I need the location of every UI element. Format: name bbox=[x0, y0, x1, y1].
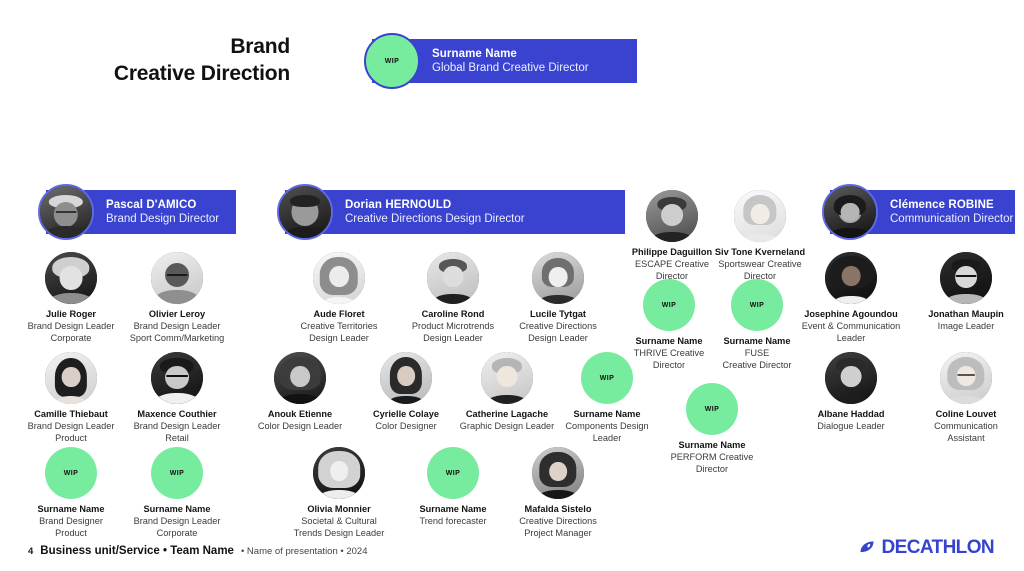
avatar bbox=[313, 447, 365, 499]
top-lead-avatar: WIP bbox=[364, 33, 420, 89]
person-role: Brand Design Leader Corporate bbox=[113, 516, 241, 540]
avatar-wip: WIP bbox=[643, 279, 695, 331]
person-name: Surname Name bbox=[113, 504, 241, 516]
top-lead-card[interactable]: WIP Surname Name Global Brand Creative D… bbox=[372, 39, 637, 83]
pillar-name: Pascal D'AMICO bbox=[106, 198, 219, 212]
pillar-role: Communication Director bbox=[890, 212, 1013, 226]
footer-presentation: • Name of presentation • 2024 bbox=[241, 546, 368, 557]
wip-label: WIP bbox=[600, 375, 614, 382]
pillar-card-brand-design[interactable]: Pascal D'AMICO Brand Design Director bbox=[46, 190, 236, 234]
wip-label: WIP bbox=[64, 470, 78, 477]
person-name: Albane Haddad bbox=[787, 409, 915, 421]
footer-business-unit: Business unit/Service • Team Name bbox=[40, 545, 234, 557]
person-node[interactable]: Maxence Couthier Brand Design Leader Ret… bbox=[113, 352, 241, 445]
decathlon-logo: DECATHLON bbox=[858, 537, 994, 559]
avatar bbox=[481, 352, 533, 404]
person-role: Creative Directions Project Manager bbox=[494, 516, 622, 540]
person-node[interactable]: Lucile Tytgat Creative Directions Design… bbox=[494, 252, 622, 345]
person-role: Brand Design Leader Sport Comm/Marketing bbox=[113, 321, 241, 345]
person-role: PERFORM Creative Director bbox=[648, 452, 776, 476]
person-role: Dialogue Leader bbox=[787, 421, 915, 433]
avatar bbox=[646, 190, 698, 242]
person-node[interactable]: Coline Louvet Communication Assistant bbox=[902, 352, 1024, 445]
photo-clemence bbox=[824, 186, 876, 238]
avatar-wip: WIP bbox=[151, 447, 203, 499]
decathlon-wordmark: DECATHLON bbox=[882, 537, 994, 559]
avatar bbox=[151, 352, 203, 404]
photo-pascal bbox=[40, 186, 92, 238]
slide-footer: 4 Business unit/Service • Team Name • Na… bbox=[28, 545, 368, 557]
pillar-card-communication[interactable]: Clémence ROBINE Communication Director bbox=[830, 190, 1015, 234]
pillar-role: Creative Directions Design Director bbox=[345, 212, 525, 226]
pillar-card-creative-directions[interactable]: Dorian HERNOULD Creative Directions Desi… bbox=[285, 190, 625, 234]
avatar bbox=[532, 447, 584, 499]
pillar-name: Dorian HERNOULD bbox=[345, 198, 525, 212]
avatar bbox=[940, 252, 992, 304]
person-name: Lucile Tytgat bbox=[494, 309, 622, 321]
page-number: 4 bbox=[28, 546, 33, 557]
avatar bbox=[151, 252, 203, 304]
person-name: Mafalda Sistelo bbox=[494, 504, 622, 516]
avatar bbox=[734, 190, 786, 242]
avatar-wip: WIP bbox=[731, 279, 783, 331]
photo-dorian bbox=[279, 186, 331, 238]
person-role: Creative Territories Design Leader bbox=[275, 321, 403, 345]
person-node[interactable]: Josephine Agoundou Event & Communication… bbox=[787, 252, 915, 345]
person-role: Societal & Cultural Trends Design Leader bbox=[275, 516, 403, 540]
page-title: Brand Creative Direction bbox=[0, 34, 290, 88]
person-node[interactable]: Olivier Leroy Brand Design Leader Sport … bbox=[113, 252, 241, 345]
avatar-wip: WIP bbox=[45, 447, 97, 499]
person-name: Jonathan Maupin bbox=[902, 309, 1024, 321]
person-role: Event & Communication Leader bbox=[787, 321, 915, 345]
avatar bbox=[45, 352, 97, 404]
wip-label: WIP bbox=[170, 470, 184, 477]
top-lead-role: Global Brand Creative Director bbox=[432, 61, 589, 75]
person-name: Coline Louvet bbox=[902, 409, 1024, 421]
avatar bbox=[277, 184, 333, 240]
person-node[interactable]: Mafalda Sistelo Creative Directions Proj… bbox=[494, 447, 622, 540]
top-lead-name: Surname Name bbox=[432, 47, 589, 61]
pillar-name: Clémence ROBINE bbox=[890, 198, 1013, 212]
avatar bbox=[825, 352, 877, 404]
decathlon-mark-icon bbox=[858, 539, 877, 558]
avatar bbox=[38, 184, 94, 240]
wip-label: WIP bbox=[662, 302, 676, 309]
avatar bbox=[427, 252, 479, 304]
avatar bbox=[380, 352, 432, 404]
person-name: Josephine Agoundou bbox=[787, 309, 915, 321]
person-name: Maxence Couthier bbox=[113, 409, 241, 421]
person-role: Image Leader bbox=[902, 321, 1024, 333]
person-role: Communication Assistant bbox=[902, 421, 1024, 445]
person-node[interactable]: Olivia Monnier Societal & Cultural Trend… bbox=[275, 447, 403, 540]
avatar bbox=[825, 252, 877, 304]
avatar bbox=[45, 252, 97, 304]
person-node[interactable]: Jonathan Maupin Image Leader bbox=[902, 252, 1024, 333]
person-name: Aude Floret bbox=[275, 309, 403, 321]
avatar bbox=[274, 352, 326, 404]
wip-label: WIP bbox=[446, 470, 460, 477]
wip-label: WIP bbox=[705, 406, 719, 413]
wip-label: WIP bbox=[750, 302, 764, 309]
wip-label: WIP bbox=[385, 58, 399, 65]
avatar bbox=[313, 252, 365, 304]
avatar bbox=[940, 352, 992, 404]
person-node[interactable]: Aude Floret Creative Territories Design … bbox=[275, 252, 403, 345]
person-role: Creative Directions Design Leader bbox=[494, 321, 622, 345]
person-name: Surname Name bbox=[648, 440, 776, 452]
avatar-wip: WIP bbox=[686, 383, 738, 435]
avatar bbox=[822, 184, 878, 240]
person-name: Olivia Monnier bbox=[275, 504, 403, 516]
avatar bbox=[532, 252, 584, 304]
pillar-role: Brand Design Director bbox=[106, 212, 219, 226]
person-node[interactable]: WIP Surname Name PERFORM Creative Direct… bbox=[648, 383, 776, 476]
person-role: Brand Design Leader Retail bbox=[113, 421, 241, 445]
avatar-wip: WIP bbox=[427, 447, 479, 499]
person-name: Olivier Leroy bbox=[113, 309, 241, 321]
person-node[interactable]: WIP Surname Name Brand Design Leader Cor… bbox=[113, 447, 241, 540]
person-node[interactable]: Albane Haddad Dialogue Leader bbox=[787, 352, 915, 433]
